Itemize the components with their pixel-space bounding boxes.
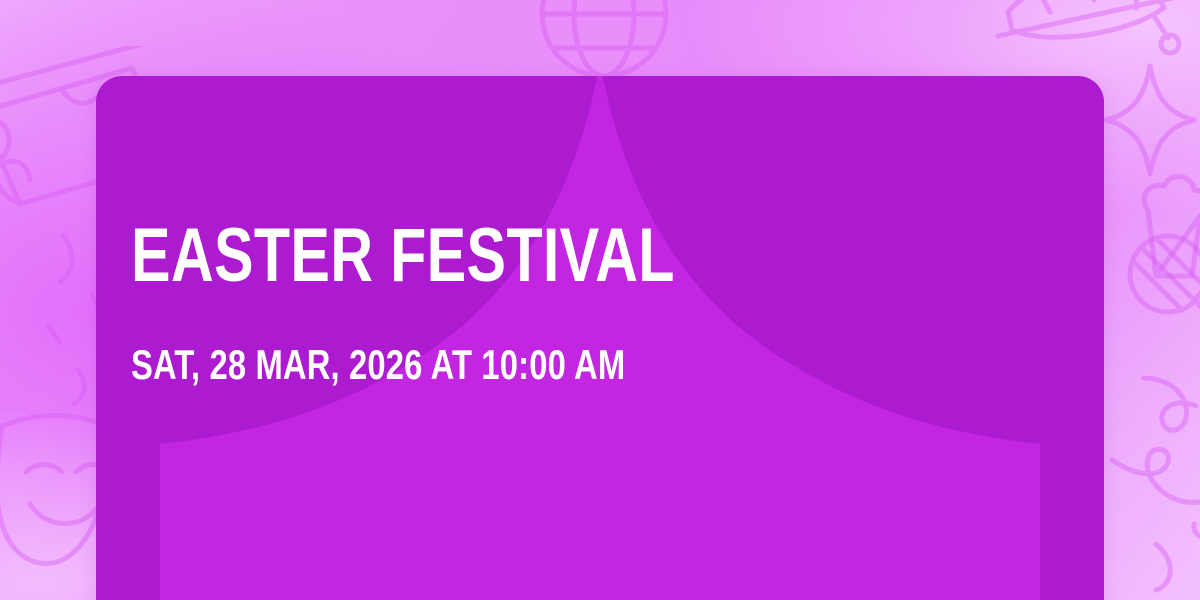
sparkle-four-point-icon bbox=[1098, 58, 1200, 182]
popcorn-icon bbox=[1130, 170, 1200, 290]
event-title: EASTER FESTIVAL bbox=[131, 218, 675, 294]
event-card[interactable]: EASTER FESTIVAL SAT, 28 MAR, 2026 AT 10:… bbox=[96, 76, 1104, 600]
event-banner: EASTER FESTIVAL SAT, 28 MAR, 2026 AT 10:… bbox=[0, 0, 1200, 600]
card-text-block: EASTER FESTIVAL SAT, 28 MAR, 2026 AT 10:… bbox=[131, 76, 991, 600]
event-datetime: SAT, 28 MAR, 2026 AT 10:00 AM bbox=[131, 344, 625, 386]
